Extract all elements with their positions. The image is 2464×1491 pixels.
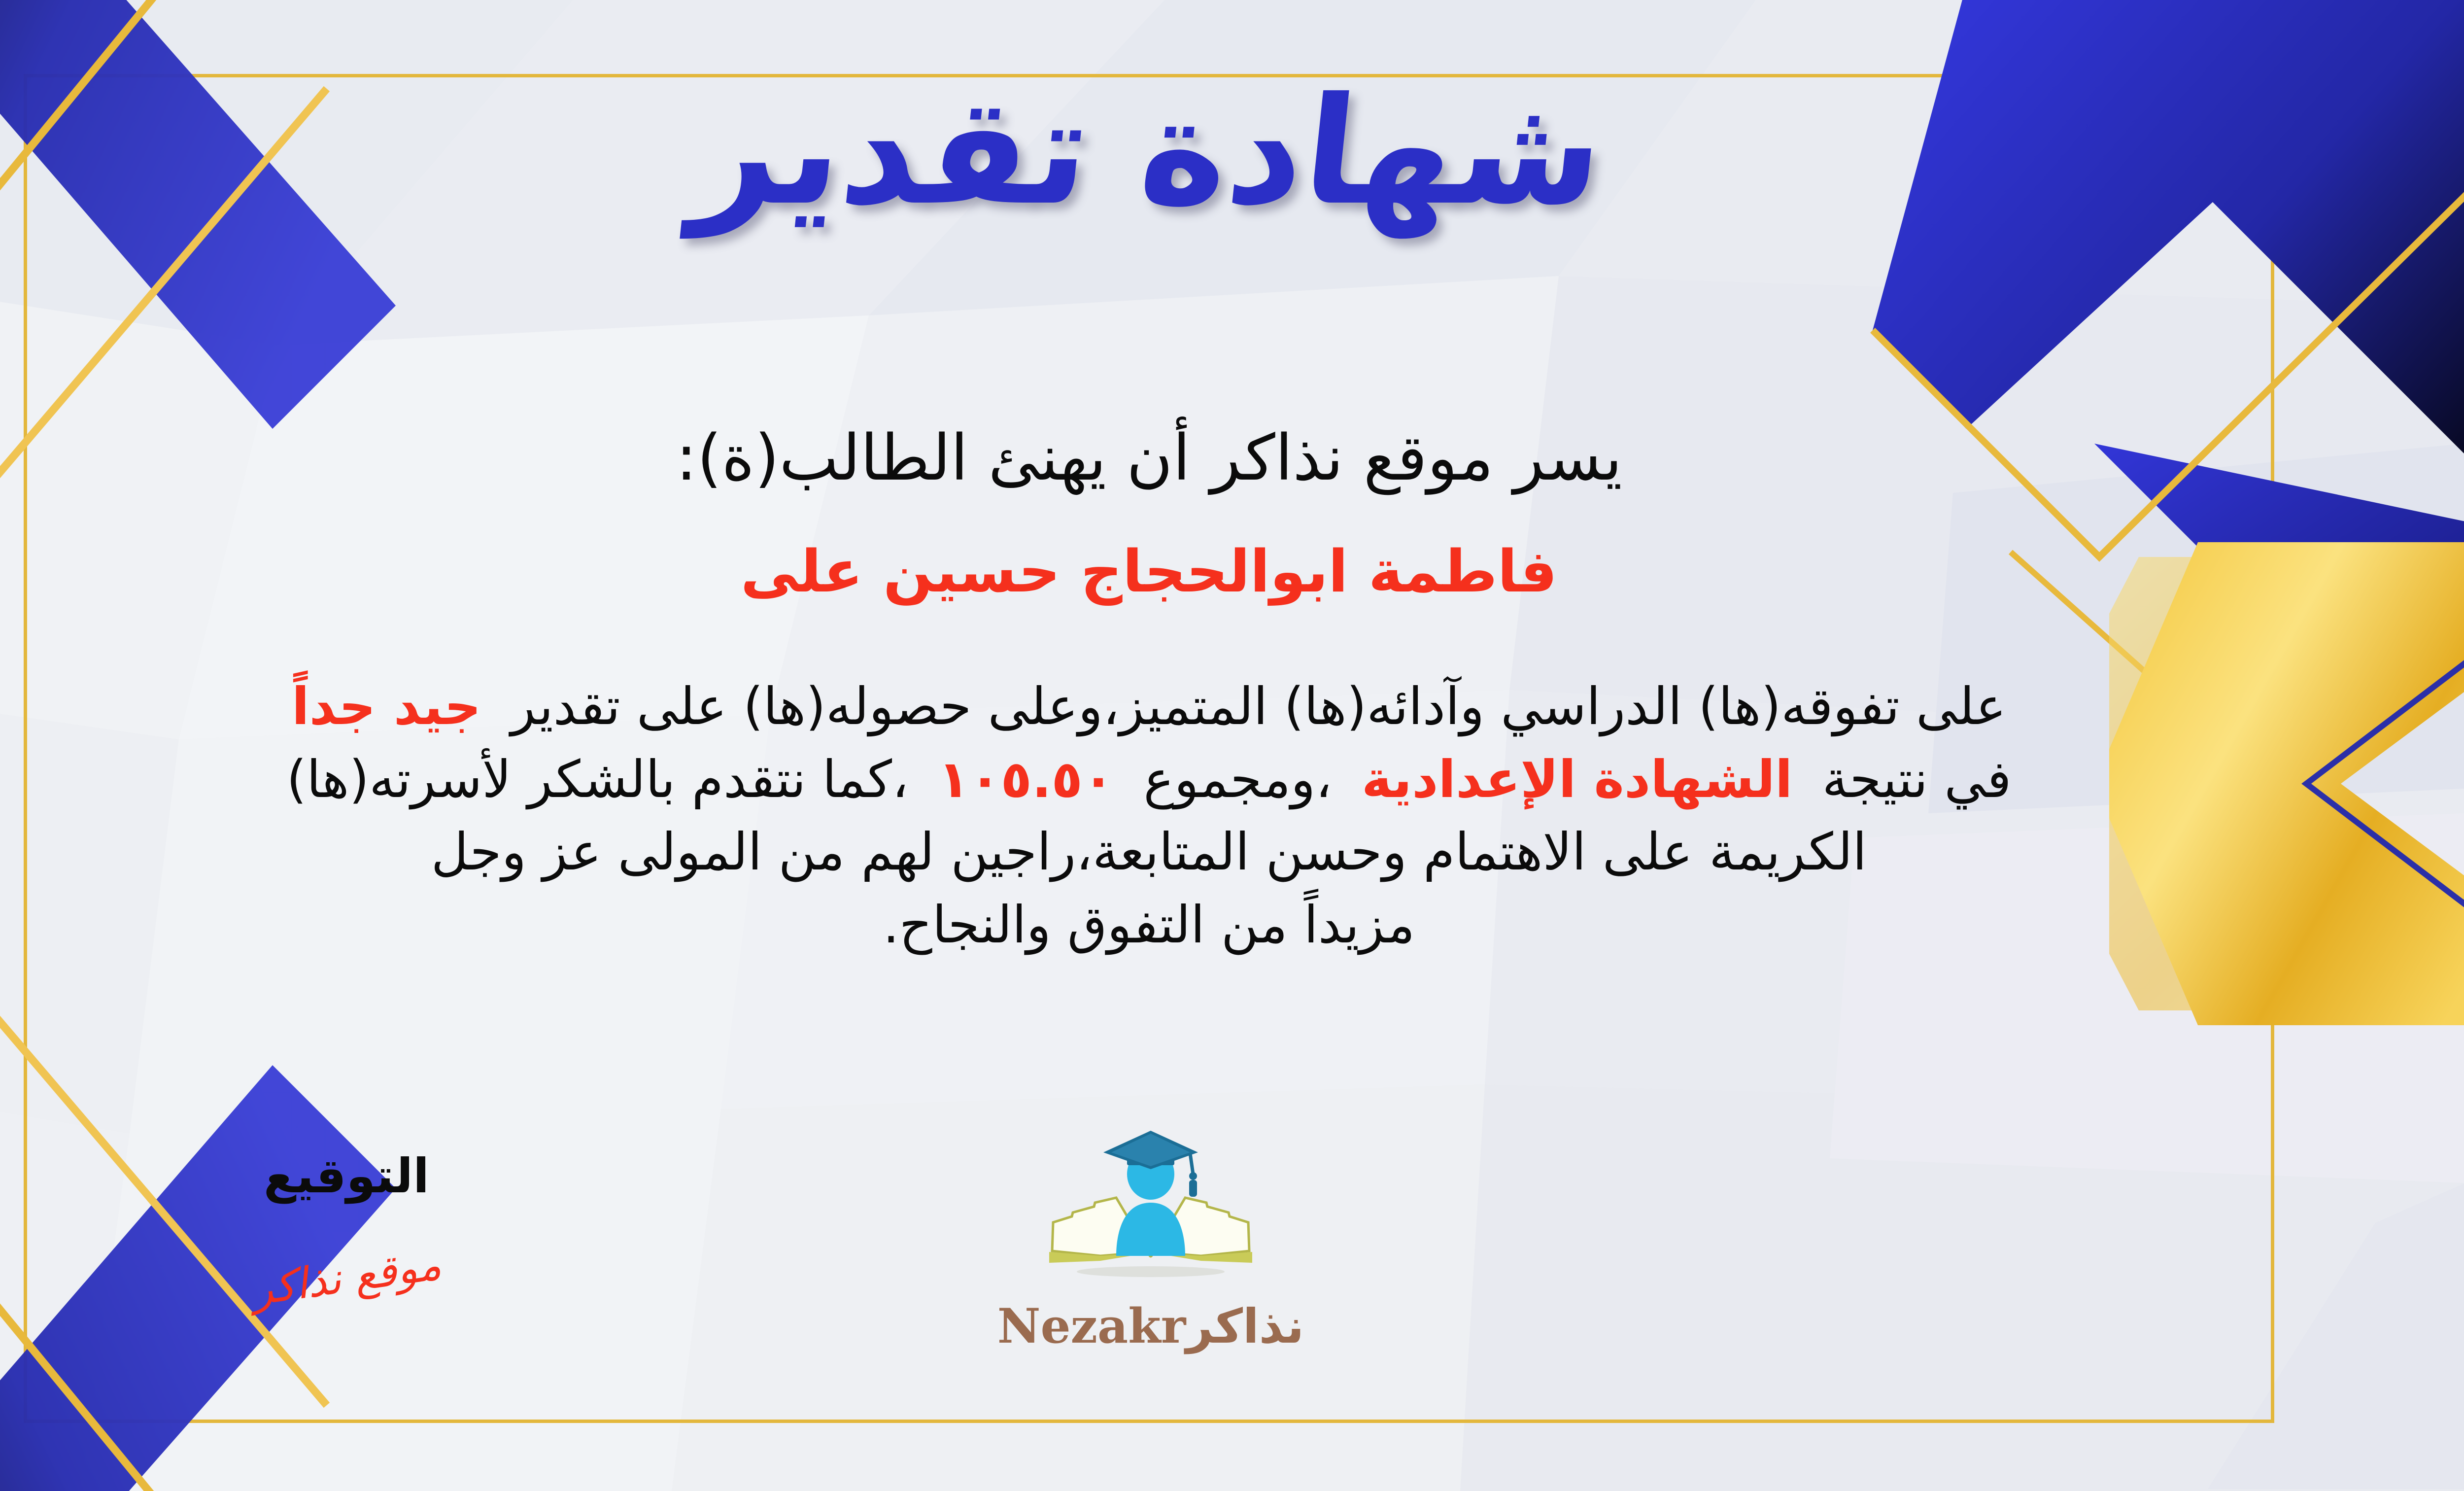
body-text-result-prefix: في نتيجة xyxy=(1822,749,2012,809)
total-score: ١٠٥.٥٠ xyxy=(938,749,1114,809)
certificate-content: شهادة تقدير يسر موقع نذاكر أن يهنئ الطال… xyxy=(0,0,2464,1491)
body-line-1: على تفوقه(ها) الدراسي وآدائه(ها) المتميز… xyxy=(0,670,2301,743)
body-line-4: مزيداً من التفوق والنجاح. xyxy=(0,889,2301,962)
body-text-thanks: ،كما نتقدم بالشكر لأسرته(ها) xyxy=(286,749,908,809)
body-text-achievement: على تفوقه(ها) الدراسي وآدائه(ها) المتميز… xyxy=(511,676,2006,736)
logo-name-english: Nezakr xyxy=(997,1298,1186,1354)
certificate-body: على تفوقه(ها) الدراسي وآدائه(ها) المتميز… xyxy=(0,670,2301,962)
body-line-2: في نتيجةالشهادة الإعدادية،ومجموع١٠٥.٥٠،ك… xyxy=(0,743,2301,816)
body-line-3: الكريمة على الاهتمام وحسن المتابعة،راجين… xyxy=(0,816,2301,889)
certificate-title: شهادة تقدير xyxy=(0,74,2464,229)
logo-wordmark: نذاكرNezakr xyxy=(978,1298,1323,1354)
signature-block: التوقيع موقع نذاكر xyxy=(208,1148,484,1302)
certificate-canvas: شهادة تقدير يسر موقع نذاكر أن يهنئ الطال… xyxy=(0,0,2464,1491)
logo-name-arabic: نذاكر xyxy=(1186,1299,1304,1354)
graduation-book-logo-icon xyxy=(1042,1129,1259,1301)
exam-name: الشهادة الإعدادية xyxy=(1362,749,1793,809)
site-logo: نذاكرNezakr xyxy=(978,1129,1323,1354)
signature-mark: موقع نذاكر xyxy=(249,1240,444,1316)
student-name: فاطمة ابوالحجاج حسين على xyxy=(0,537,2464,605)
signature-label: التوقيع xyxy=(208,1148,484,1204)
grade-value: جيد جداً xyxy=(292,676,481,736)
greeting-line: يسر موقع نذاكر أن يهنئ الطالب(ة): xyxy=(0,421,2464,495)
body-text-total-label: ،ومجموع xyxy=(1143,749,1332,809)
